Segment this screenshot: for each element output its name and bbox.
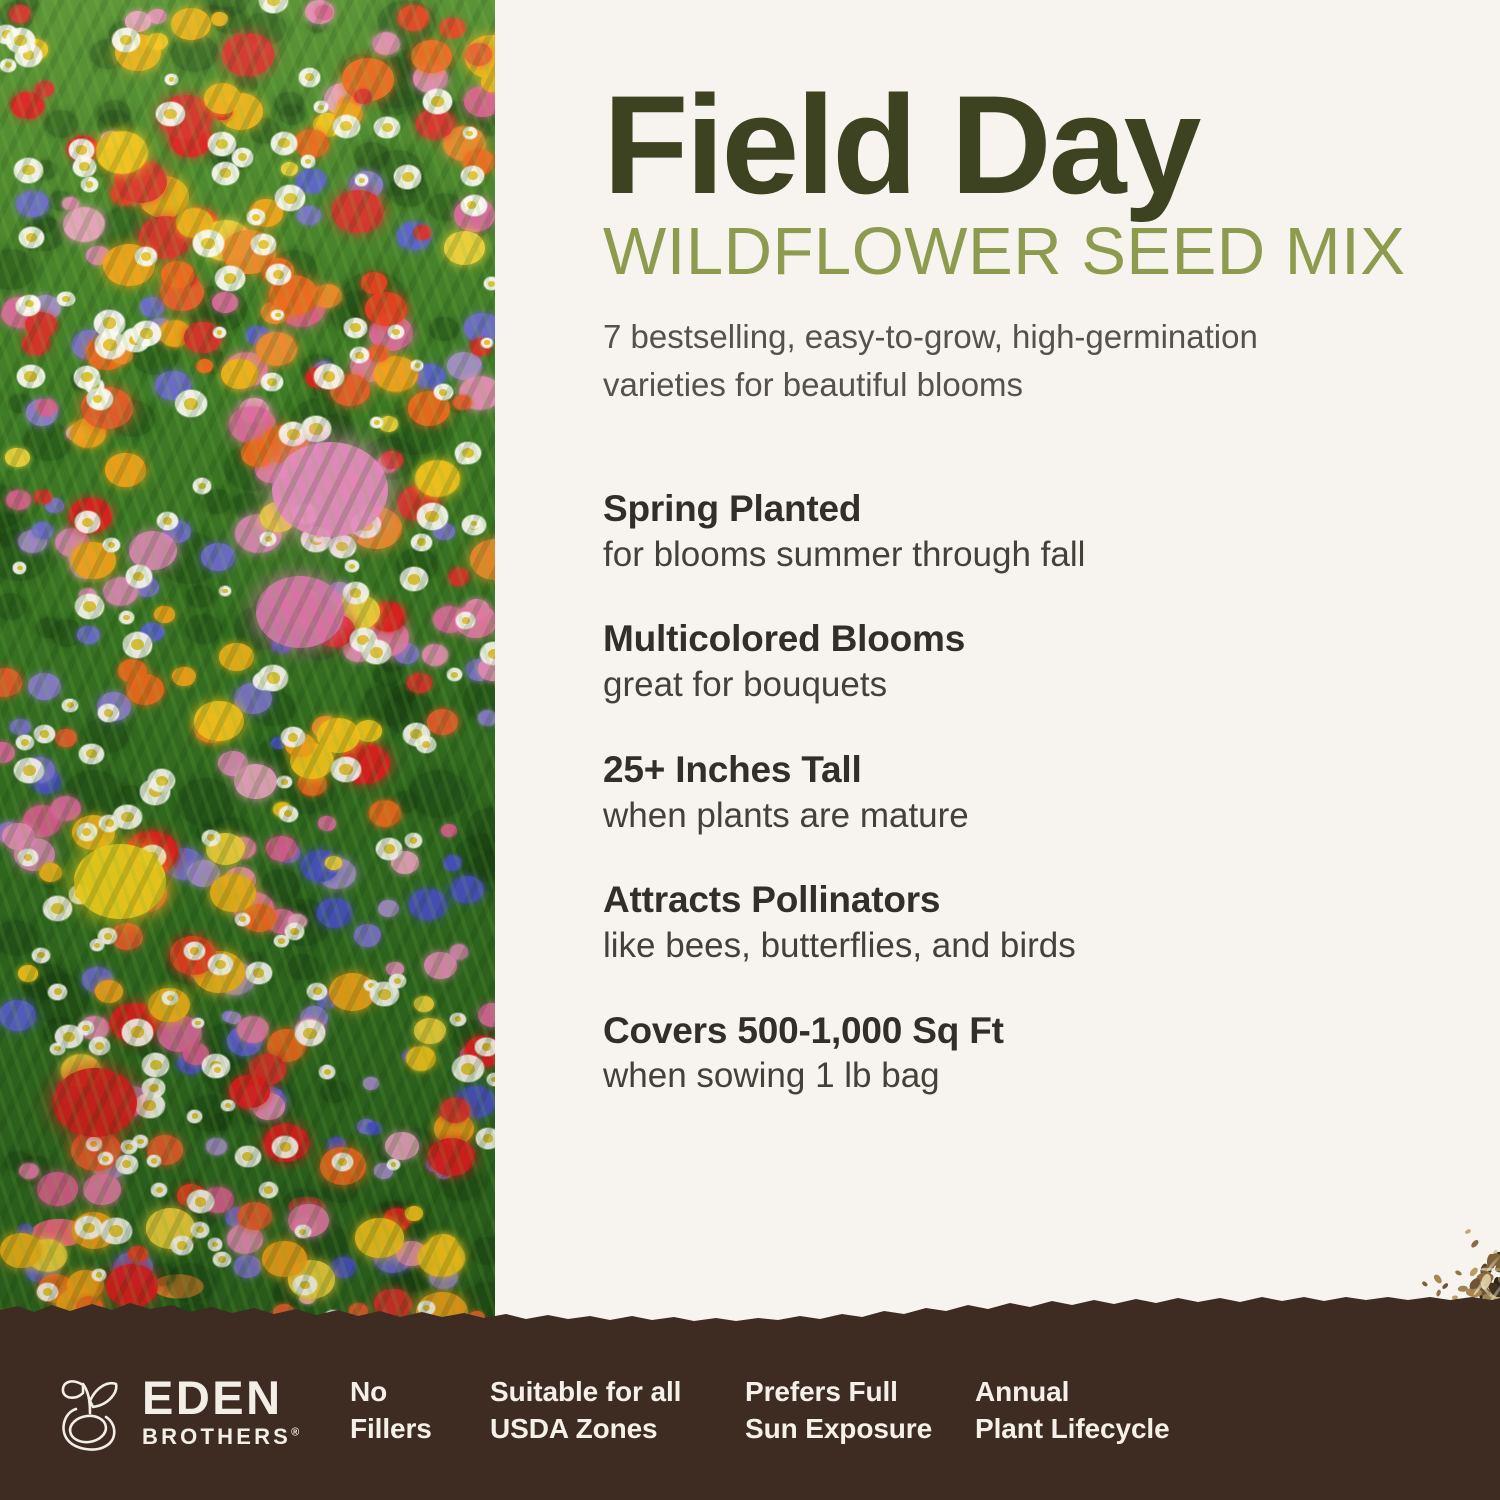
- flower-blossom: [222, 33, 274, 76]
- flower-blossom: [202, 489, 232, 514]
- flower-blossom: [105, 453, 146, 486]
- daisy-blossom: [0, 59, 16, 73]
- flower-blossom: [441, 824, 457, 837]
- flower-blossom: [5, 448, 29, 468]
- badge-line-1: No: [350, 1374, 490, 1411]
- product-subtitle: WILDFLOWER SEED MIX: [603, 218, 1463, 285]
- daisy-blossom: [450, 1013, 465, 1026]
- flower-blossom: [83, 1174, 121, 1205]
- flower-blossom: [411, 40, 451, 73]
- flower-blossom: [465, 43, 492, 65]
- daisy-blossom: [74, 366, 101, 389]
- flower-blossom: [354, 924, 381, 946]
- daisy-blossom: [261, 373, 283, 392]
- flower-blossom: [154, 606, 175, 624]
- flower-blossom: [128, 1246, 148, 1262]
- flower-blossom: [318, 816, 336, 831]
- daisy-blossom: [116, 1155, 138, 1173]
- daisy-blossom: [374, 117, 400, 139]
- flower-blossom: [262, 1241, 307, 1278]
- flower-blossom: [440, 18, 465, 39]
- flower-blossom: [361, 272, 387, 293]
- daisy-blossom: [213, 1252, 231, 1268]
- daisy-blossom: [475, 1038, 495, 1057]
- daisy-blossom: [210, 1064, 225, 1077]
- daisy-blossom: [416, 736, 436, 753]
- flower-blossom: [53, 1068, 137, 1137]
- flower-blossom: [478, 710, 495, 725]
- flower-blossom: [19, 1163, 38, 1179]
- flower-blossom: [206, 1138, 226, 1155]
- daisy-blossom: [463, 127, 477, 139]
- flower-blossom: [317, 718, 359, 753]
- logo-subname: BROTHERS®: [142, 1426, 299, 1448]
- daisy-blossom: [193, 478, 211, 493]
- daisy-blossom: [417, 503, 448, 530]
- daisy-blossom: [132, 321, 160, 345]
- flower-blossom: [238, 1202, 272, 1230]
- flower-blossom: [325, 856, 342, 870]
- feature-heading: Spring Planted: [603, 487, 1403, 531]
- flower-blossom: [414, 996, 434, 1012]
- daisy-blossom: [148, 769, 175, 792]
- daisy-blossom: [461, 197, 481, 214]
- daisy-blossom: [332, 1153, 353, 1171]
- daisy-blossom: [191, 1222, 209, 1238]
- daisy-blossom: [314, 101, 327, 112]
- flower-blossom: [74, 844, 166, 919]
- daisy-blossom: [329, 535, 356, 558]
- content-panel: Field Day WILDFLOWER SEED MIX 7 bestsell…: [495, 0, 1500, 1340]
- daisy-blossom: [192, 1018, 205, 1029]
- daisy-blossom: [90, 939, 104, 951]
- flower-blossom: [0, 249, 36, 291]
- daisy-blossom: [86, 1137, 102, 1151]
- daisy-blossom: [103, 538, 120, 553]
- daisy-blossom: [14, 158, 43, 183]
- flower-blossom: [6, 490, 31, 510]
- flower-blossom: [34, 490, 52, 505]
- daisy-blossom: [92, 1269, 106, 1281]
- daisy-blossom: [135, 1093, 165, 1118]
- flower-blossom: [368, 345, 389, 362]
- daisy-blossom: [14, 758, 44, 783]
- flower-blossom: [36, 399, 57, 416]
- daisy-blossom: [135, 247, 157, 266]
- daisy-blossom: [447, 668, 462, 681]
- daisy-blossom: [202, 830, 220, 845]
- flower-blossom: [422, 644, 448, 666]
- daisy-blossom: [476, 1128, 495, 1149]
- flower-blossom: [414, 1018, 446, 1044]
- footer-badge-no-fillers: No Fillers: [350, 1374, 490, 1448]
- flower-blossom: [119, 785, 142, 804]
- daisy-blossom: [208, 132, 236, 156]
- daisy-blossom: [452, 1055, 484, 1082]
- flower-blossom: [210, 1113, 232, 1131]
- flower-blossom: [95, 980, 123, 1003]
- daisy-blossom: [343, 582, 369, 604]
- flower-blossom: [63, 207, 105, 242]
- footer-row: EDEN BROTHERS® No Fillers Suitable for a…: [0, 1322, 1500, 1500]
- flower-blossom: [96, 131, 149, 174]
- daisy-blossom: [405, 833, 422, 848]
- daisy-blossom: [123, 632, 153, 657]
- logo-subname-text: BROTHERS: [142, 1424, 291, 1449]
- daisy-blossom: [151, 1183, 167, 1197]
- daisy-blossom: [187, 1110, 202, 1123]
- flower-blossom: [0, 668, 22, 697]
- daisy-blossom: [345, 560, 359, 572]
- daisy-blossom: [247, 209, 265, 225]
- daisy-blossom: [147, 1155, 161, 1167]
- daisy-blossom: [57, 292, 74, 307]
- flower-blossom: [406, 1046, 436, 1071]
- flower-blossom: [427, 709, 458, 735]
- daisy-blossom: [235, 913, 250, 926]
- flower-blossom: [55, 729, 77, 747]
- daisy-blossom: [213, 327, 226, 338]
- daisy-blossom: [481, 338, 493, 348]
- badge-line-1: Prefers Full: [745, 1374, 975, 1411]
- daisy-blossom: [461, 166, 484, 186]
- flower-blossom: [0, 742, 15, 763]
- daisy-blossom: [299, 68, 320, 86]
- flower-blossom: [16, 191, 49, 218]
- flower-blossom: [185, 614, 222, 644]
- feature-detail: great for bouquets: [603, 663, 1403, 708]
- flower-blossom: [279, 104, 305, 125]
- daisy-blossom: [232, 148, 254, 166]
- flower-blossom: [147, 33, 168, 50]
- flower-blossom: [354, 89, 372, 104]
- footer-badge-sun-exposure: Prefers Full Sun Exposure: [745, 1374, 975, 1448]
- flower-blossom: [32, 522, 52, 539]
- daisy-blossom: [156, 102, 185, 126]
- daisy-blossom: [468, 518, 481, 529]
- flower-blossom: [77, 626, 99, 644]
- flower-blossom: [172, 667, 196, 687]
- daisy-blossom: [484, 277, 495, 290]
- feature-item: Covers 500-1,000 Sq Ft when sowing 1 lb …: [603, 1009, 1403, 1099]
- logo-wordmark: EDEN BROTHERS®: [142, 1374, 299, 1449]
- flower-blossom: [0, 593, 27, 620]
- wildflower-meadow-photo: [0, 0, 495, 1340]
- daisy-blossom: [281, 727, 305, 747]
- product-title: Field Day: [603, 78, 1463, 212]
- feature-heading: Covers 500-1,000 Sq Ft: [603, 1009, 1403, 1053]
- flower-blossom: [414, 225, 431, 239]
- daisy-blossom: [400, 567, 429, 591]
- daisy-blossom: [165, 74, 177, 85]
- daisy-blossom: [79, 744, 103, 765]
- flower-blossom: [10, 719, 31, 736]
- product-infographic: Field Day WILDFLOWER SEED MIX 7 bestsell…: [0, 0, 1500, 1500]
- flower-blossom: [219, 643, 254, 672]
- flower-blossom: [201, 543, 235, 571]
- daisy-blossom: [219, 586, 232, 597]
- flower-blossom: [297, 206, 320, 225]
- daisy-blossom: [133, 1135, 149, 1149]
- daisy-blossom: [122, 1019, 154, 1046]
- daisy-blossom: [411, 534, 432, 551]
- flower-blossom: [444, 231, 486, 265]
- flower-blossom: [256, 332, 297, 366]
- flower-blossom: [409, 889, 447, 920]
- daisy-blossom: [387, 1159, 400, 1170]
- daisy-blossom: [75, 1216, 102, 1239]
- flower-blossom: [373, 663, 401, 686]
- daisy-blossom: [171, 1236, 194, 1255]
- daisy-blossom: [13, 562, 26, 573]
- daisy-blossom: [73, 157, 97, 177]
- daisy-blossom: [75, 594, 104, 619]
- flower-blossom: [372, 32, 400, 55]
- flower-blossom: [385, 1132, 419, 1160]
- flower-blossom: [317, 898, 353, 927]
- daisy-blossom: [175, 390, 207, 417]
- daisy-blossom: [434, 384, 452, 400]
- daisy-blossom: [388, 325, 404, 339]
- flower-blossom: [332, 190, 384, 233]
- flower-blossom: [407, 673, 431, 693]
- logo-name: EDEN: [142, 1374, 299, 1421]
- feature-item: 25+ Inches Tall when plants are mature: [603, 748, 1403, 838]
- feature-detail: like bees, butterflies, and birds: [603, 924, 1403, 969]
- flower-blossom: [355, 1218, 403, 1258]
- flower-blossom: [35, 81, 55, 97]
- daisy-blossom: [87, 390, 108, 408]
- flower-blossom: [448, 568, 470, 586]
- daisy-blossom: [100, 1218, 131, 1245]
- feature-list: Spring Planted for blooms summer through…: [603, 487, 1403, 1099]
- flower-blossom: [405, 1206, 423, 1221]
- daisy-blossom: [89, 1037, 110, 1055]
- daisy-blossom: [394, 165, 422, 188]
- flower-blossom: [470, 1237, 495, 1265]
- daisy-blossom: [487, 1073, 495, 1086]
- daisy-blossom: [260, 532, 276, 546]
- daisy-blossom: [43, 896, 72, 921]
- badge-line-1: Suitable for all: [490, 1374, 745, 1411]
- daisy-blossom: [32, 948, 50, 963]
- flower-blossom: [51, 796, 81, 821]
- feature-item: Spring Planted for blooms summer through…: [603, 487, 1403, 577]
- flower-blossom: [229, 1075, 270, 1109]
- flower-blossom: [369, 800, 402, 827]
- daisy-blossom: [370, 982, 399, 1006]
- daisy-blossom: [246, 962, 271, 984]
- daisy-blossom: [455, 442, 482, 465]
- badge-line-2: Fillers: [350, 1411, 490, 1448]
- daisy-blossom: [215, 266, 244, 291]
- daisy-blossom: [277, 776, 291, 788]
- registered-mark: ®: [291, 1426, 299, 1438]
- flower-blossom: [329, 973, 376, 1011]
- feature-detail: when sowing 1 lb bag: [603, 1054, 1403, 1099]
- daisy-blossom: [48, 984, 67, 1000]
- flower-blossom: [22, 333, 49, 355]
- daisy-blossom: [62, 699, 78, 712]
- daisy-blossom: [307, 983, 327, 1000]
- flower-blossom: [0, 1000, 36, 1030]
- flower-blossom: [18, 965, 38, 981]
- daisy-blossom: [279, 806, 298, 822]
- daisy-blossom: [34, 725, 55, 743]
- daisy-blossom: [274, 935, 289, 948]
- flower-blossom: [186, 585, 214, 608]
- daisy-blossom: [319, 1065, 335, 1079]
- footer-badge-usda-zones: Suitable for all USDA Zones: [490, 1374, 745, 1448]
- flower-blossom: [366, 1122, 382, 1135]
- daisy-blossom: [293, 1275, 317, 1295]
- flower-blossom: [481, 73, 495, 92]
- daisy-blossom: [208, 1238, 223, 1250]
- flower-blossom: [28, 673, 61, 700]
- daisy-blossom: [333, 115, 360, 138]
- daisy-blossom: [208, 954, 233, 975]
- badge-line-2: Plant Lifecycle: [975, 1411, 1225, 1448]
- feature-item: Multicolored Blooms great for bouquets: [603, 617, 1403, 707]
- flower-blossom: [429, 317, 458, 341]
- daisy-blossom: [251, 234, 275, 255]
- badge-line-1: Annual: [975, 1374, 1225, 1411]
- daisy-blossom: [376, 838, 402, 860]
- flower-blossom: [418, 1239, 465, 1278]
- daisy-blossom: [344, 318, 367, 338]
- flower-blossom: [234, 1255, 262, 1278]
- flower-blossom: [24, 422, 72, 462]
- daisy-blossom: [295, 1225, 311, 1239]
- feature-detail: for blooms summer through fall: [603, 533, 1403, 578]
- flower-blossom: [294, 129, 329, 158]
- flower-blossom: [45, 110, 79, 138]
- feature-detail: when plants are mature: [603, 794, 1403, 839]
- flower-blossom: [234, 764, 277, 799]
- daisy-blossom: [6, 28, 35, 53]
- daisy-blossom: [77, 823, 97, 840]
- flower-blossom: [272, 442, 388, 537]
- daisy-blossom: [259, 1182, 279, 1199]
- flower-blossom: [256, 576, 344, 648]
- feature-item: Attracts Pollinators like bees, butterfl…: [603, 878, 1403, 968]
- feature-heading: Attracts Pollinators: [603, 878, 1403, 922]
- daisy-blossom: [142, 1053, 169, 1076]
- daisy-blossom: [301, 155, 315, 167]
- flower-blossom: [450, 944, 468, 959]
- flower-blossom: [161, 261, 193, 288]
- daisy-blossom: [235, 1146, 261, 1168]
- flower-blossom: [237, 1016, 269, 1042]
- daisy-blossom: [99, 815, 119, 832]
- daisy-blossom: [126, 565, 152, 587]
- daisy-blossom: [271, 132, 298, 155]
- eden-brothers-logo[interactable]: EDEN BROTHERS®: [52, 1369, 312, 1453]
- torn-soil-edge: [0, 1296, 1500, 1324]
- daisy-blossom: [112, 28, 140, 52]
- daisy-blossom: [16, 735, 34, 750]
- title-block: Field Day WILDFLOWER SEED MIX 7 bestsell…: [603, 78, 1463, 409]
- daisy-blossom: [221, 1100, 235, 1112]
- flower-blossom: [365, 292, 407, 326]
- product-tagline: 7 bestselling, easy-to-grow, high-germin…: [603, 313, 1363, 409]
- feature-heading: Multicolored Blooms: [603, 617, 1403, 661]
- flower-blossom: [37, 1172, 79, 1206]
- sprout-seed-logo-icon: [52, 1369, 128, 1453]
- daisy-blossom: [258, 665, 288, 691]
- flower-blossom: [221, 359, 258, 389]
- daisy-blossom: [193, 230, 224, 256]
- daisy-blossom: [81, 177, 99, 192]
- flower-blossom: [415, 460, 460, 497]
- flower-blossom: [281, 162, 298, 176]
- badge-line-2: Sun Exposure: [745, 1411, 975, 1448]
- flower-blossom: [409, 770, 468, 818]
- daisy-blossom: [212, 162, 239, 185]
- daisy-blossom: [18, 849, 38, 866]
- flower-blossom: [363, 1077, 379, 1090]
- daisy-blossom: [259, 0, 288, 13]
- flower-blossom: [320, 1080, 348, 1103]
- daisy-blossom: [314, 364, 343, 389]
- flower-blossom: [378, 900, 399, 917]
- flower-blossom: [171, 8, 210, 40]
- flower-blossom: [194, 701, 243, 742]
- daisy-blossom: [295, 1020, 325, 1046]
- flower-blossom: [398, 5, 429, 31]
- daisy-blossom: [411, 360, 423, 370]
- footer-badge-plant-lifecycle: Annual Plant Lifecycle: [975, 1374, 1225, 1448]
- daisy-blossom: [94, 310, 126, 337]
- flower-blossom: [450, 876, 484, 904]
- flower-blossom: [315, 5, 333, 20]
- soil-footer-bar: EDEN BROTHERS® No Fillers Suitable for a…: [0, 1322, 1500, 1500]
- flower-blossom: [62, 197, 78, 211]
- badge-line-2: USDA Zones: [490, 1411, 745, 1448]
- feature-heading: 25+ Inches Tall: [603, 748, 1403, 792]
- daisy-blossom: [17, 365, 45, 389]
- flower-blossom: [470, 539, 495, 580]
- flower-blossom: [287, 954, 319, 980]
- daisy-blossom: [119, 611, 134, 624]
